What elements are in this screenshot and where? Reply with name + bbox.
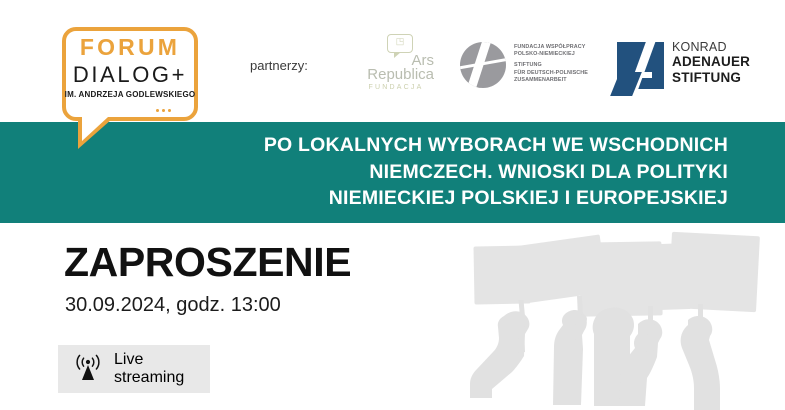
fwpn-de-line-2: FÜR DEUTSCH-POLNISCHE [514,70,598,77]
ars-line-3: FUNDACJA [356,84,436,91]
partners-label: partnerzy: [250,58,308,73]
headline-text: PO LOKALNYCH WYBORACH WE WSCHODNICH NIEM… [168,132,728,212]
fwpn-road-icon [460,42,506,88]
fwpn-de-line-3: ZUSAMMENARBEIT [514,77,598,84]
live-label-line-1: Live [114,351,184,369]
headline-line-3: NIEMIECKIEJ POLSKIEJ I EUROPEJSKIEJ [168,185,728,212]
fwpn-pl-line-1: FUNDACJA WSPÓŁPRACY [514,44,598,51]
partner-logo-konrad-adenauer-stiftung: KONRAD ADENAUER STIFTUNG [617,40,762,95]
kas-line-1: KONRAD [672,40,764,54]
fwpn-de-line-1: STIFTUNG [514,62,598,69]
event-datetime: 30.09.2024, godz. 13:00 [65,295,281,315]
broadcast-antenna-icon [72,354,104,384]
kas-line-3: STIFTUNG [672,70,764,86]
partner-logo-ars-republica: ◳ Ars Republica FUNDACJA [356,34,436,96]
partner-logo-fwpn: FUNDACJA WSPÓŁPRACY POLSKO-NIEMIECKIEJ S… [460,42,595,94]
protest-hands-illustration [452,228,785,410]
invitation-poster: partnerzy: ◳ Ars Republica FUNDACJA FUND… [0,0,785,410]
live-label-line-2: streaming [114,369,184,387]
page-title: ZAPROSZENIE [64,242,351,283]
logo-forum-text: FORUM [62,36,198,59]
headline-line-1: PO LOKALNYCH WYBORACH WE WSCHODNICH [168,132,728,159]
logo-dots-icon [156,109,171,112]
fwpn-text-block: FUNDACJA WSPÓŁPRACY POLSKO-NIEMIECKIEJ S… [514,44,598,84]
forum-dialog-logo: FORUM DIALOG+ IM. ANDRZEJA GODLEWSKIEGO [56,27,206,149]
logo-dialog-text: DIALOG+ [62,64,198,86]
logo-subtitle-text: IM. ANDRZEJA GODLEWSKIEGO [62,91,198,99]
live-streaming-label: Live streaming [114,351,184,387]
ars-speech-bubble-icon: ◳ [387,34,413,53]
ars-bubble-glyph: ◳ [388,36,412,47]
headline-line-2: NIEMCZECH. WNIOSKI DLA POLITYKI [168,159,728,186]
live-streaming-badge[interactable]: Live streaming [58,345,210,393]
kas-line-2: ADENAUER [672,54,764,70]
fwpn-pl-line-2: POLSKO-NIEMIECKIEJ [514,51,598,58]
ars-line-2: Republica [356,66,436,83]
kas-a-mark-icon [617,42,664,89]
kas-text-block: KONRAD ADENAUER STIFTUNG [672,40,764,86]
